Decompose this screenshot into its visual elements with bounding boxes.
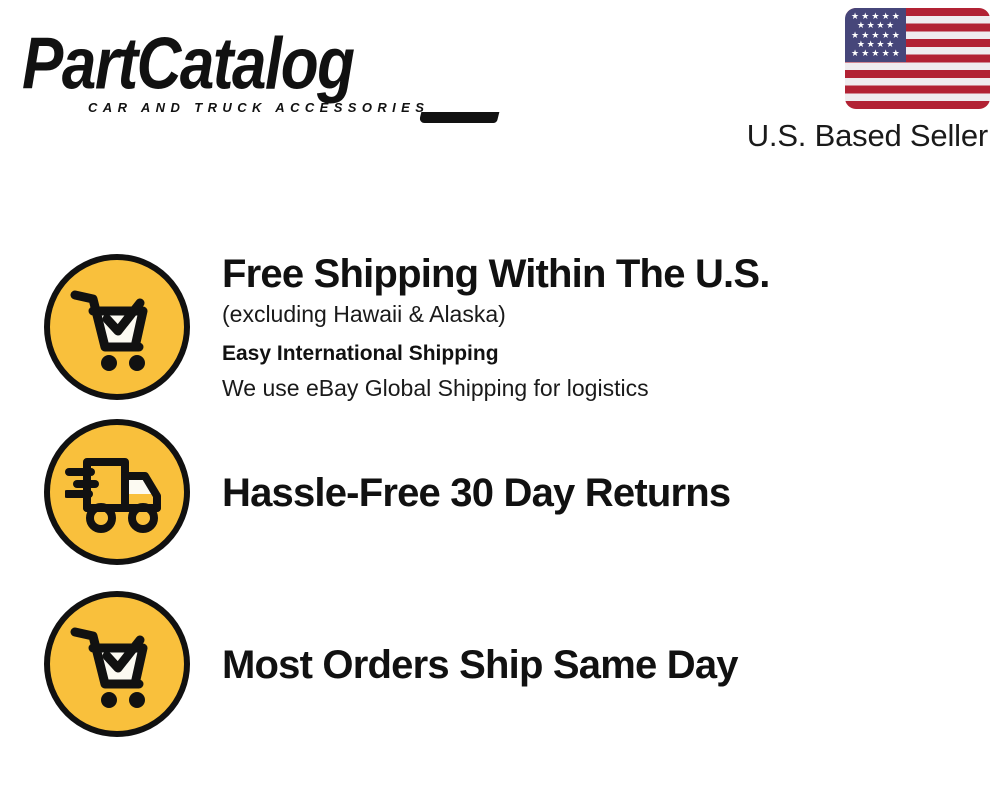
brand-wordmark: PartCatalog — [22, 26, 492, 104]
star-icon: ★ — [851, 49, 859, 58]
star-icon: ★ — [871, 49, 879, 58]
brand-logo[interactable]: PartCatalog CAR AND TRUCK ACCESSORIES — [22, 26, 492, 116]
shopping-cart-check-icon — [44, 591, 190, 737]
star-icon: ★ — [892, 49, 900, 58]
logo-descender-swoosh — [419, 112, 500, 123]
flag-stars: ★ ★ ★ ★ ★ ★ ★ ★ ★ ★ ★ ★ — [845, 8, 906, 62]
star-row: ★ ★ ★ ★ ★ — [848, 49, 903, 58]
feature-note: (excluding Hawaii & Alaska) — [222, 297, 1000, 331]
feature-row: Hassle-Free 30 Day Returns — [0, 419, 1000, 565]
feature-title: Most Orders Ship Same Day — [222, 642, 1000, 688]
star-icon: ★ — [861, 49, 869, 58]
brand-tagline: CAR AND TRUCK ACCESSORIES — [88, 100, 429, 115]
feature-text-block: Most Orders Ship Same Day — [222, 640, 1000, 688]
flag-canton: ★ ★ ★ ★ ★ ★ ★ ★ ★ ★ ★ ★ — [845, 8, 906, 62]
feature-row: Free Shipping Within The U.S. (excluding… — [0, 249, 1000, 405]
us-based-seller-badge: ★ ★ ★ ★ ★ ★ ★ ★ ★ ★ ★ ★ — [690, 8, 990, 154]
star-icon: ★ — [882, 49, 890, 58]
feature-text-block: Hassle-Free 30 Day Returns — [222, 468, 1000, 516]
feature-subnote: We use eBay Global Shipping for logistic… — [222, 371, 1000, 405]
shopping-cart-check-icon — [44, 254, 190, 400]
us-flag-icon: ★ ★ ★ ★ ★ ★ ★ ★ ★ ★ ★ ★ — [845, 8, 990, 109]
feature-row: Most Orders Ship Same Day — [0, 591, 1000, 737]
feature-title: Free Shipping Within The U.S. — [222, 251, 1000, 297]
page-header: PartCatalog CAR AND TRUCK ACCESSORIES ★ … — [0, 0, 1000, 175]
us-based-seller-label: U.S. Based Seller — [690, 118, 990, 154]
feature-subtitle: Easy International Shipping — [222, 337, 1000, 371]
delivery-truck-icon — [44, 419, 190, 565]
feature-title: Hassle-Free 30 Day Returns — [222, 470, 1000, 516]
feature-text-block: Free Shipping Within The U.S. (excluding… — [222, 249, 1000, 405]
